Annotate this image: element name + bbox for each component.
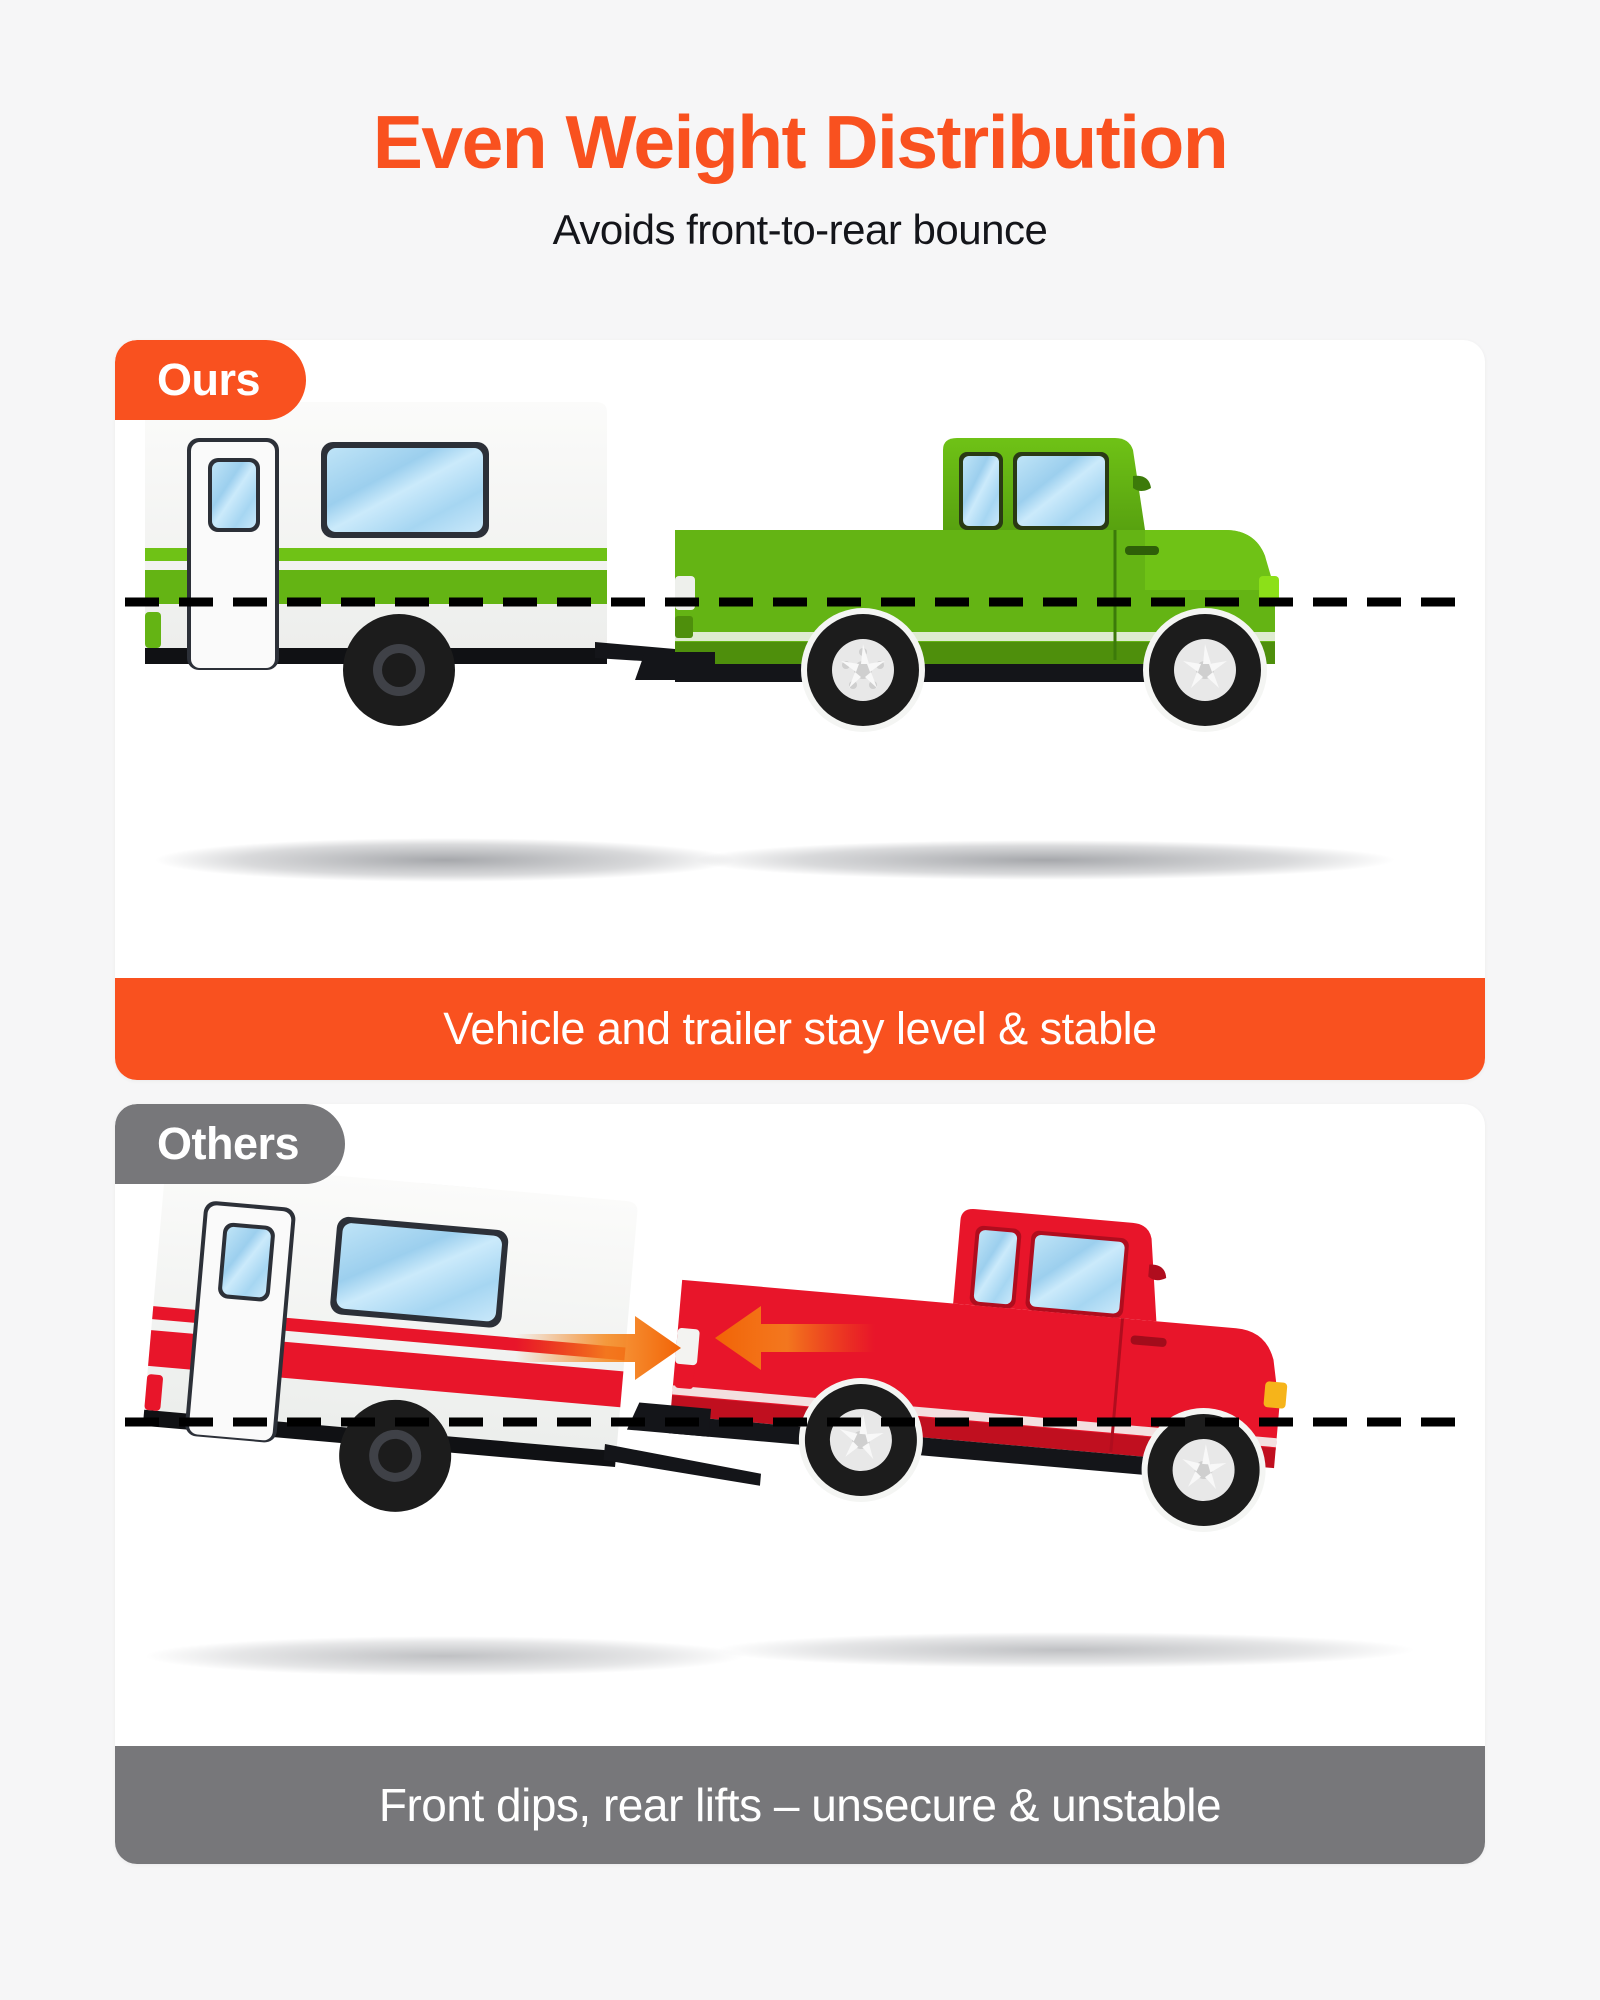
ours-illustration [115,380,1485,980]
others-badge: Others [115,1104,345,1184]
page-subtitle: Avoids front-to-rear bounce [115,206,1485,254]
truck-shadow [695,840,1395,880]
truck-shadow [715,1632,1415,1668]
header: Even Weight Distribution Avoids front-to… [115,0,1485,254]
others-comparison-card: Others [115,1104,1485,1864]
page-title: Even Weight Distribution [115,105,1485,180]
infographic-page: Even Weight Distribution Avoids front-to… [0,0,1600,2000]
level-towing-diagram [115,380,1485,980]
pickup-truck [635,438,1279,732]
unlevel-towing-diagram [115,1164,1485,1744]
trailer-shadow [155,838,735,882]
ours-comparison-card: Ours [115,340,1485,1080]
pickup-truck [622,1181,1300,1539]
ours-badge: Ours [115,340,306,420]
trailer-shadow [145,1636,745,1676]
others-badge-label: Others [157,1118,299,1170]
truck-front-wheel [1143,608,1267,732]
others-caption: Front dips, rear lifts – unsecure & unst… [115,1746,1485,1864]
others-illustration [115,1164,1485,1744]
ours-caption-text: Vehicle and trailer stay level & stable [443,1003,1156,1055]
ours-badge-label: Ours [157,354,260,406]
truck-rear-wheel [801,608,925,732]
ours-caption: Vehicle and trailer stay level & stable [115,978,1485,1080]
others-caption-text: Front dips, rear lifts – unsecure & unst… [379,1778,1221,1832]
